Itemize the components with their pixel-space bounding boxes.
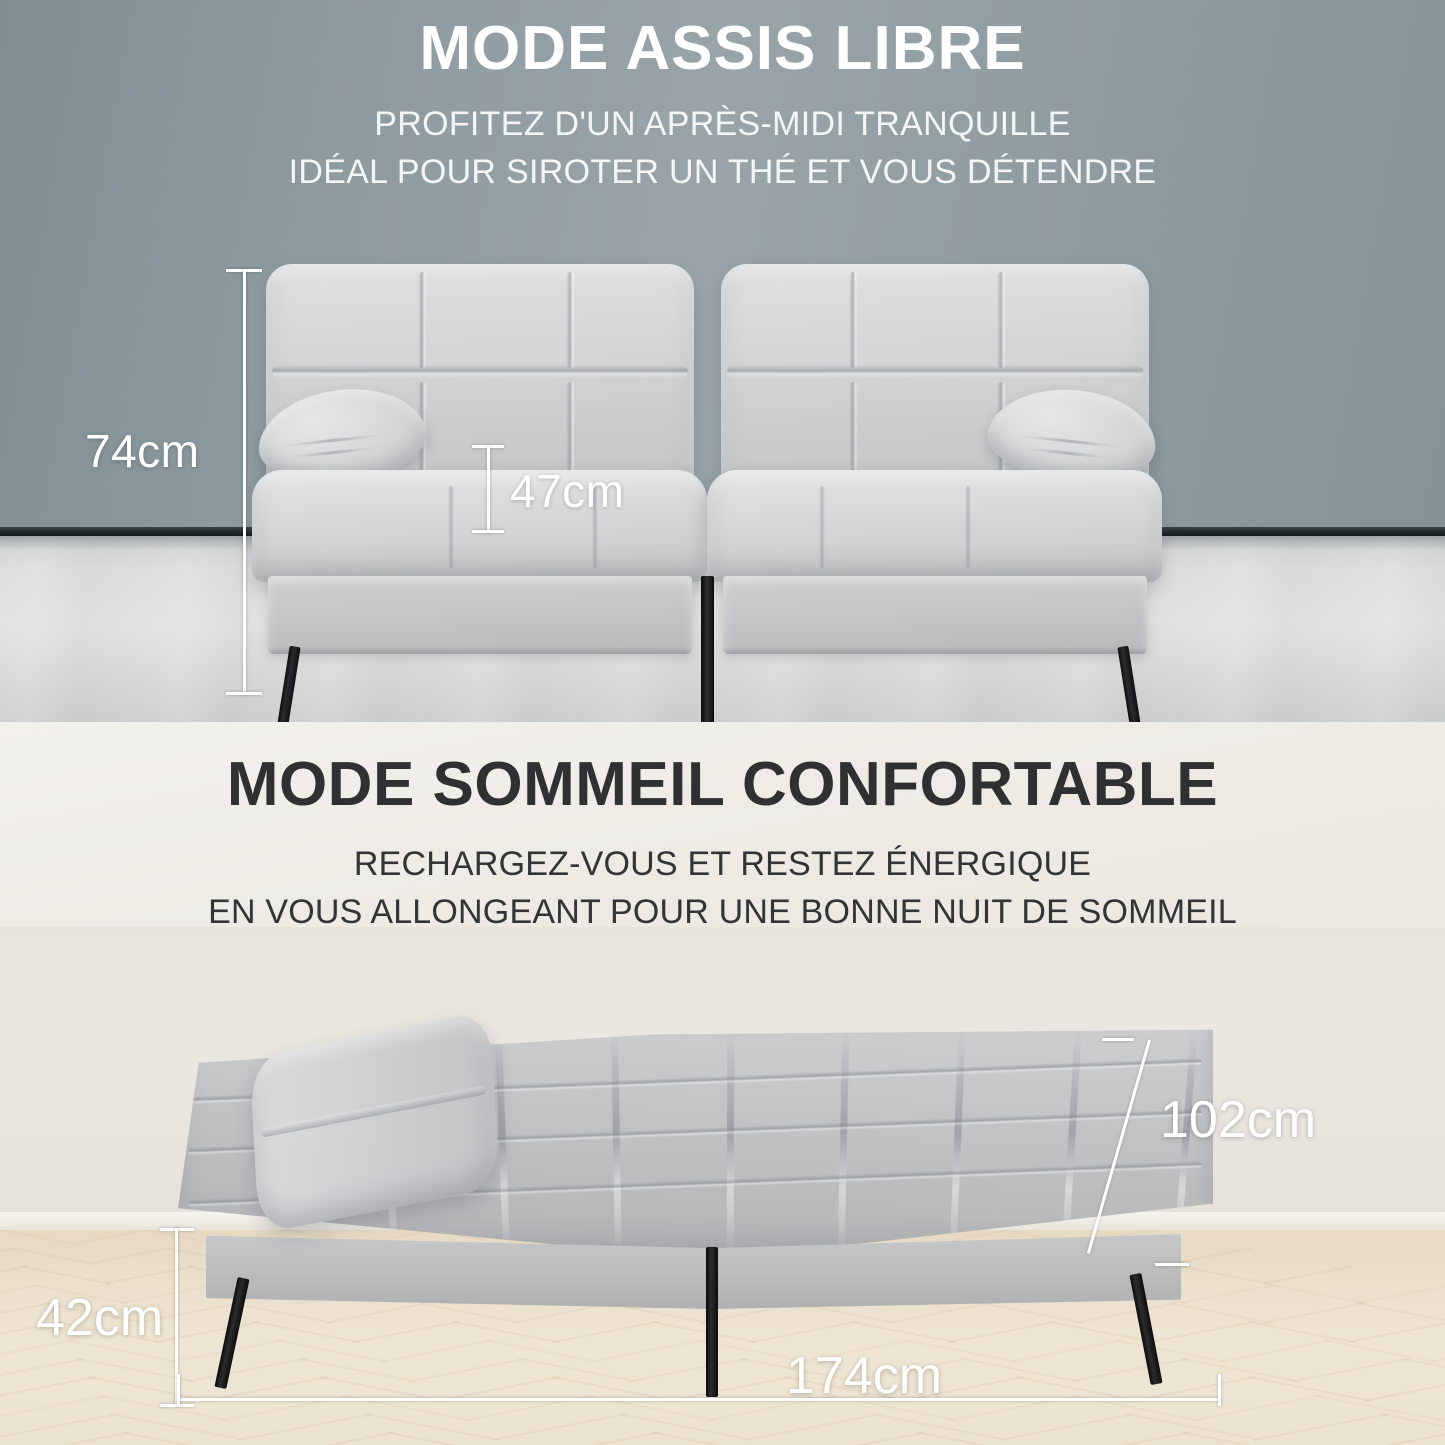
sitting-mode-subtitle-line1: PROFITEZ D'UN APRÈS-MIDI TRANQUILLE	[0, 101, 1445, 147]
measure-cap-102-bottom	[1155, 1263, 1189, 1266]
measure-line-174	[175, 1398, 1220, 1401]
sleeping-mode-subtitle-line2: EN VOUS ALLONGEANT POUR UNE BONNE NUIT D…	[0, 889, 1445, 935]
measure-label-42cm: 42cm	[36, 1288, 163, 1348]
sofa-half-right	[707, 258, 1162, 678]
seat-cushion-left	[252, 470, 707, 582]
sofa-sitting-mode	[252, 258, 1162, 678]
base-skirt-left	[268, 576, 692, 654]
base-skirt-right	[723, 576, 1147, 654]
measure-label-174cm: 174cm	[786, 1346, 942, 1406]
sitting-mode-header: MODE ASSIS LIBRE PROFITEZ D'UN APRÈS-MID…	[0, 0, 1445, 195]
measure-cap-102-top	[1102, 1038, 1134, 1041]
measure-cap-47-bottom	[472, 530, 504, 533]
measure-cap-174-left	[177, 1374, 180, 1406]
sleeping-mode-header: MODE SOMMEIL CONFORTABLE RECHARGEZ-VOUS …	[0, 722, 1445, 935]
sofa-leg-center	[701, 576, 714, 722]
seat-cushion-right	[707, 470, 1162, 582]
measure-label-102cm: 102cm	[1160, 1090, 1316, 1150]
measure-cap-74-bottom	[226, 692, 262, 695]
measure-line-47	[487, 445, 490, 533]
measure-label-47cm: 47cm	[510, 464, 624, 518]
measure-cap-174-right	[1218, 1374, 1221, 1406]
product-infographic: MODE ASSIS LIBRE PROFITEZ D'UN APRÈS-MID…	[0, 0, 1445, 1445]
sofa-bed-flat-mode	[178, 1025, 1213, 1355]
sleeping-mode-title: MODE SOMMEIL CONFORTABLE	[0, 752, 1445, 819]
sitting-mode-panel: MODE ASSIS LIBRE PROFITEZ D'UN APRÈS-MID…	[0, 0, 1445, 722]
measure-line-74	[243, 269, 246, 695]
measure-label-74cm: 74cm	[85, 424, 199, 478]
sitting-mode-subtitle-line2: IDÉAL POUR SIROTER UN THÉ ET VOUS DÉTEND…	[0, 149, 1445, 195]
sitting-mode-title: MODE ASSIS LIBRE	[0, 16, 1445, 83]
sleeping-mode-subtitle-line1: RECHARGEZ-VOUS ET RESTEZ ÉNERGIQUE	[0, 841, 1445, 887]
bed-leg-center	[706, 1247, 718, 1397]
sofa-half-left	[252, 258, 707, 678]
